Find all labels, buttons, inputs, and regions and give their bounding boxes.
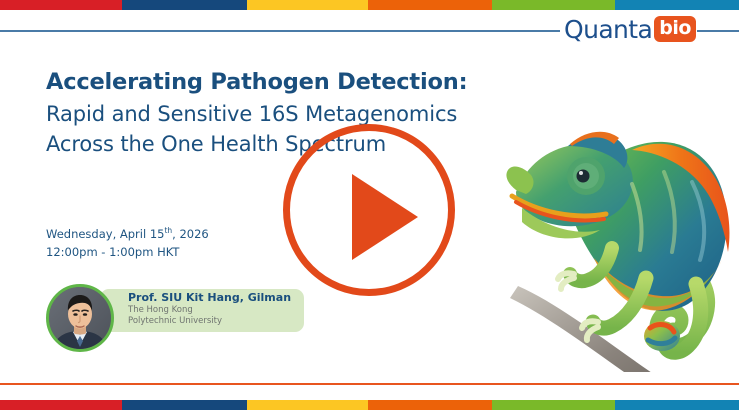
event-date-text: Wednesday, April 15: [46, 227, 164, 241]
play-triangle-icon: [352, 174, 418, 260]
avatar-eye-left: [73, 313, 77, 316]
webinar-banner: Quanta bio Accelerating Pathogen Detecti…: [0, 0, 739, 410]
header-rule-left: [0, 30, 560, 32]
strip-segment-yellow: [247, 400, 368, 410]
eye-pupil: [577, 170, 590, 183]
strip-segment-dark-blue: [122, 400, 247, 410]
play-button[interactable]: [283, 124, 455, 296]
strip-segment-orange: [368, 0, 492, 10]
bottom-color-strip: [0, 400, 739, 410]
speaker-avatar: [46, 284, 114, 352]
logo-bio-badge: bio: [654, 16, 696, 42]
strip-segment-teal-blue: [615, 0, 739, 10]
speaker-name: Prof. SIU Kit Hang, Gilman: [128, 291, 308, 305]
eye-highlight: [579, 171, 583, 175]
strip-segment-yellow: [247, 0, 368, 10]
top-color-strip: [0, 0, 739, 10]
strip-segment-red: [0, 0, 122, 10]
strip-segment-teal-blue: [615, 400, 739, 410]
strip-segment-green: [492, 0, 615, 10]
event-date: Wednesday, April 15th, 2026: [46, 226, 209, 244]
front-foot: [558, 273, 574, 289]
header-rule-right: [697, 30, 739, 32]
strip-segment-green: [492, 400, 615, 410]
title-line-2: Rapid and Sensitive 16S Metagenomics: [46, 101, 476, 128]
speaker-card: Prof. SIU Kit Hang, Gilman The Hong Kong…: [46, 284, 306, 354]
speaker-org-line-2: Polytechnic University: [128, 316, 308, 328]
event-date-year: , 2026: [172, 227, 209, 241]
event-time: 12:00pm - 1:00pm HKT: [46, 244, 209, 262]
quantabio-logo[interactable]: Quanta bio: [564, 14, 696, 44]
speaker-org-line-1: The Hong Kong: [128, 305, 308, 317]
strip-segment-dark-blue: [122, 0, 247, 10]
footer-rule: [0, 383, 739, 385]
avatar-eye-right: [83, 313, 87, 316]
chameleon-illustration: [482, 72, 739, 372]
speaker-details: Prof. SIU Kit Hang, Gilman The Hong Kong…: [128, 291, 308, 328]
strip-segment-orange: [368, 400, 492, 410]
logo-wordmark: Quanta: [564, 17, 652, 42]
title-line-1: Accelerating Pathogen Detection:: [46, 68, 476, 97]
strip-segment-red: [0, 400, 122, 410]
schedule-block: Wednesday, April 15th, 2026 12:00pm - 1:…: [46, 226, 209, 262]
